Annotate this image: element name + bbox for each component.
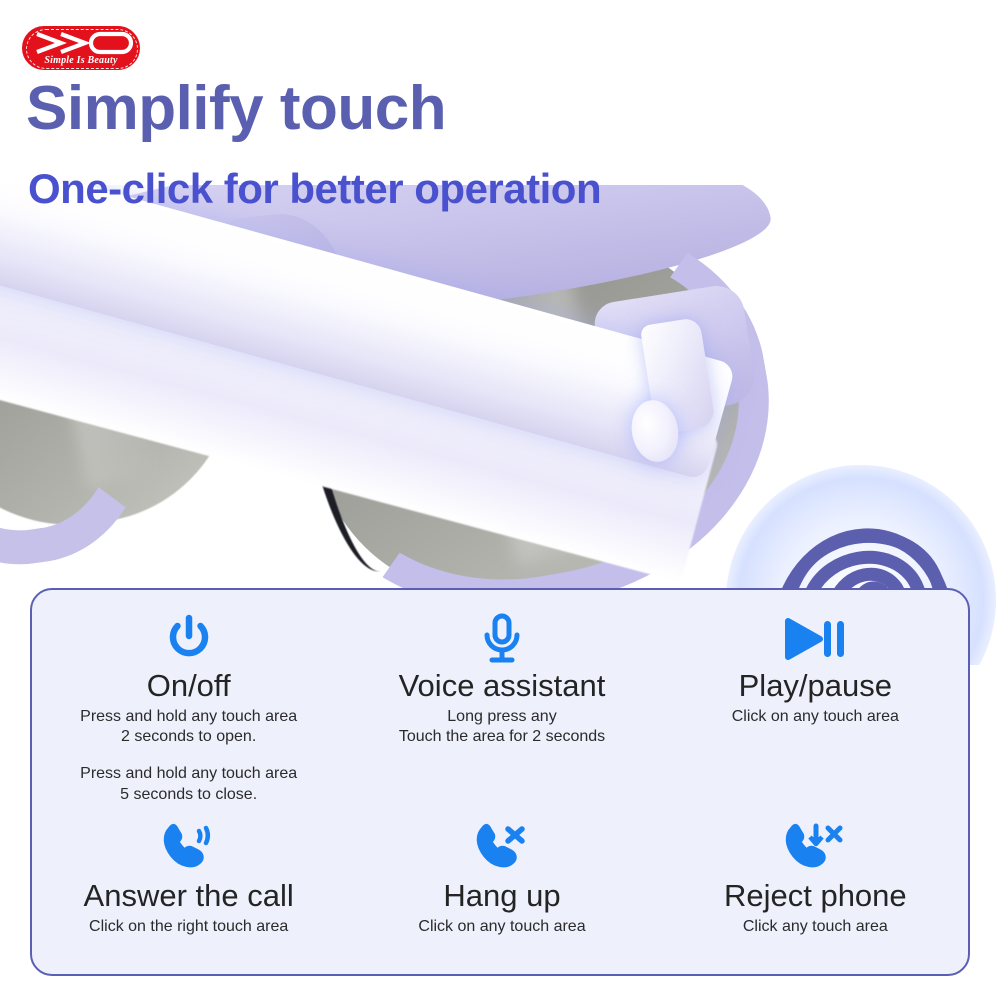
power-icon [38,612,339,666]
play-pause-icon [665,612,966,666]
brand-logo: Simple Is Beauty [20,24,142,72]
xo-logo-icon [31,30,135,56]
feature-title: On/off [38,670,339,703]
feature-answer-call[interactable]: Answer the call Click on the right touch… [32,822,345,937]
feature-title: Reject phone [665,880,966,913]
feature-panel: On/off Press and hold any touch area 2 s… [30,588,970,976]
feature-description: Press and hold any touch area 2 seconds … [38,707,339,749]
feature-title: Answer the call [38,880,339,913]
logo-tagline: Simple Is Beauty [22,55,140,66]
phone-reject-icon [665,822,966,876]
feature-voice-assistant[interactable]: Voice assistant Long press any Touch the… [345,612,658,806]
phone-hangup-icon [351,822,652,876]
feature-title: Voice assistant [351,670,652,703]
phone-incoming-icon [38,822,339,876]
feature-title: Play/pause [665,670,966,703]
feature-description: Click on any touch area [665,707,966,728]
feature-description: Click any touch area [665,917,966,938]
product-marketing-page: Simple Is Beauty Simplify touch One-clic… [0,0,1000,1000]
feature-description: Click on any touch area [351,917,652,938]
page-title: Simplify touch [26,78,446,140]
feature-row-top: On/off Press and hold any touch area 2 s… [32,612,972,806]
page-subtitle: One-click for better operation [28,168,601,210]
feature-play-pause[interactable]: Play/pause Click on any touch area [659,612,972,806]
feature-description: Long press any Touch the area for 2 seco… [351,707,652,749]
feature-row-bottom: Answer the call Click on the right touch… [32,822,972,937]
feature-reject-phone[interactable]: Reject phone Click any touch area [659,822,972,937]
feature-title: Hang up [351,880,652,913]
feature-hang-up[interactable]: Hang up Click on any touch area [345,822,658,937]
feature-description: Click on the right touch area [38,917,339,938]
microphone-icon [351,612,652,666]
feature-description-secondary: Press and hold any touch area 5 seconds … [38,764,339,806]
feature-on-off[interactable]: On/off Press and hold any touch area 2 s… [32,612,345,806]
